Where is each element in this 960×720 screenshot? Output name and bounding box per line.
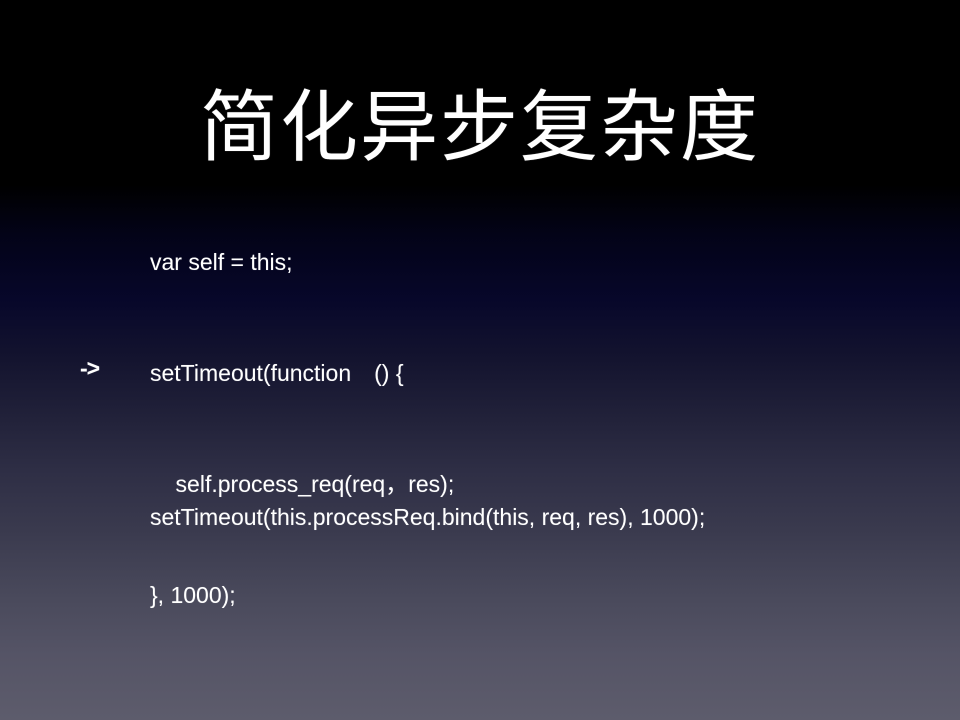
transform-arrow: -> [80, 352, 99, 384]
slide-canvas: 简化异步复杂度 var self = this; setTimeout(func… [0, 0, 960, 720]
code-block-after: setTimeout(this.processReq.bind(this, re… [150, 425, 705, 610]
code-line: var self = this; [150, 244, 454, 281]
code-line: setTimeout(this.processReq.bind(this, re… [150, 499, 705, 536]
page-title: 简化异步复杂度 [0, 82, 960, 174]
code-line: setTimeout(function () { [150, 355, 454, 392]
